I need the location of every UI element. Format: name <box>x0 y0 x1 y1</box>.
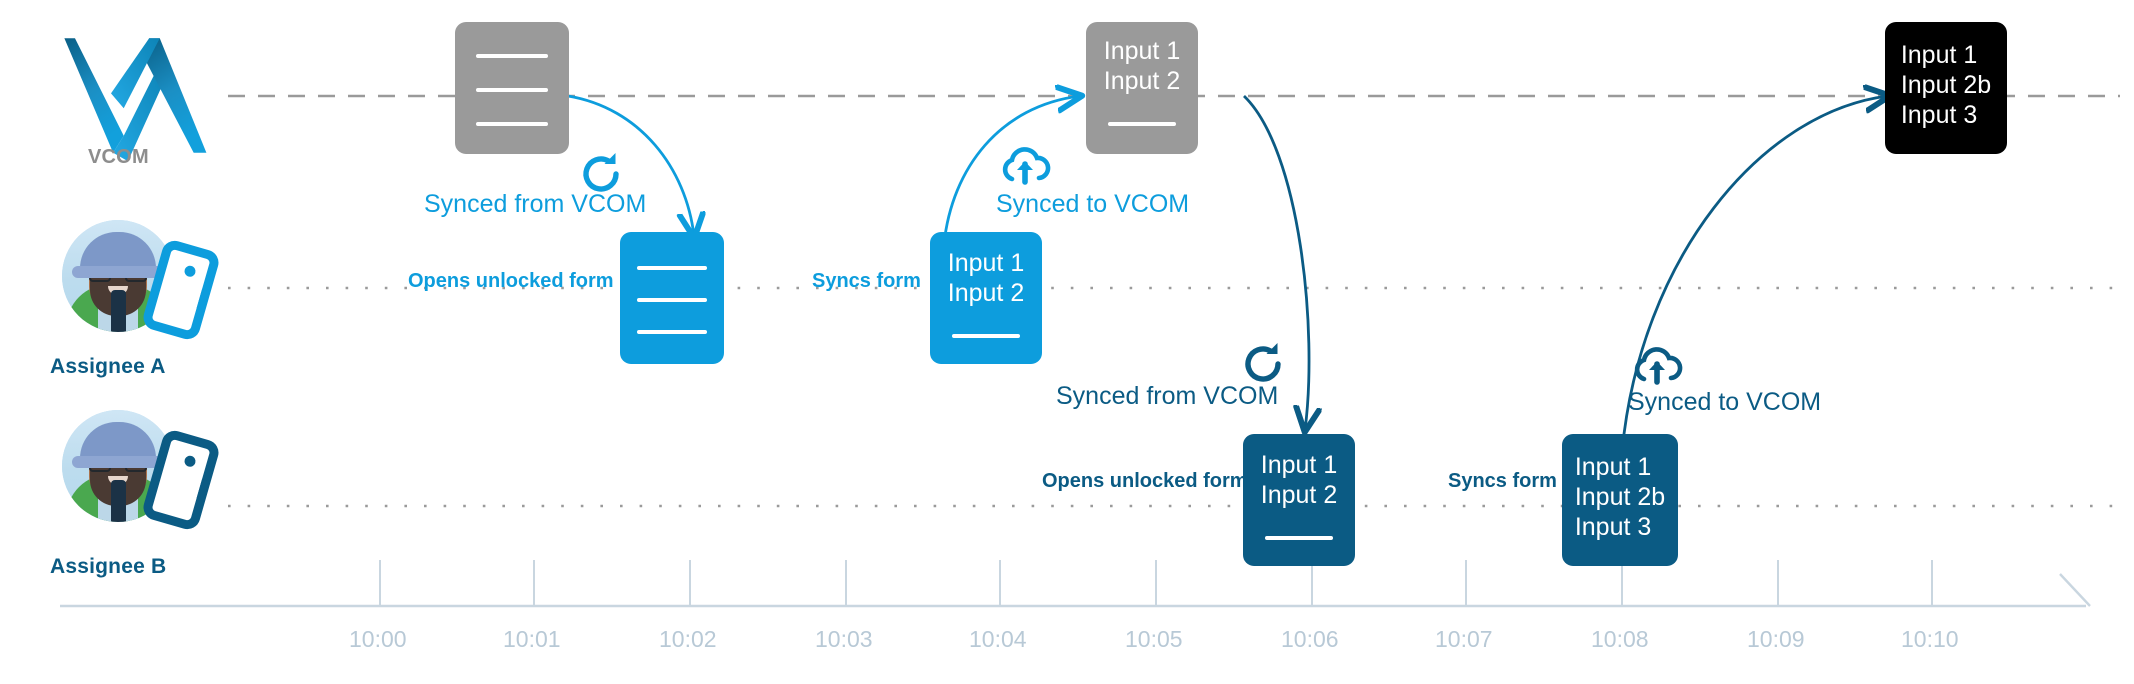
time-tick-1005: 10:05 <box>1125 626 1183 653</box>
annotation-syncs-form-b: Syncs form <box>1448 470 1557 493</box>
annotation-syncs-form-a: Syncs form <box>812 270 921 293</box>
card-vcom-blank-form[interactable] <box>455 22 569 154</box>
time-tick-1009: 10:09 <box>1747 626 1805 653</box>
annotation-opens-unlocked-form-b: Opens unlocked form <box>1042 470 1248 493</box>
lane-label-assignee-b: Assignee B <box>50 555 166 579</box>
annotation-synced-from-vcom-a: Synced from VCOM <box>424 190 646 219</box>
time-tick-1001: 10:01 <box>503 626 561 653</box>
annotation-opens-unlocked-form-a: Opens unlocked form <box>408 270 614 293</box>
annotation-synced-to-vcom-a: Synced to VCOM <box>996 190 1189 219</box>
card-vcom-form-final-text: Input 1 Input 2b Input 3 <box>1901 40 1991 130</box>
vcom-logo <box>64 38 206 161</box>
card-vcom-form-final[interactable]: Input 1 Input 2b Input 3 <box>1885 22 2007 154</box>
card-b-unlocked-form[interactable]: Input 1 Input 2 <box>1243 434 1355 566</box>
card-b-filled-form-text: Input 1 Input 2b Input 3 <box>1575 452 1665 542</box>
card-a-filled-form-text: Input 1 Input 2 <box>948 248 1024 308</box>
refresh-icon-b <box>1240 340 1288 388</box>
lane-label-vcom: VCOM <box>88 146 149 169</box>
time-tick-1006: 10:06 <box>1281 626 1339 653</box>
time-axis <box>60 560 2090 606</box>
lane-label-assignee-a: Assignee A <box>50 355 166 379</box>
card-a-filled-form[interactable]: Input 1 Input 2 <box>930 232 1042 364</box>
time-tick-1007: 10:07 <box>1435 626 1493 653</box>
time-tick-1002: 10:02 <box>659 626 717 653</box>
annotation-synced-to-vcom-b: Synced to VCOM <box>1628 388 1821 417</box>
card-vcom-form-v1-text: Input 1 Input 2 <box>1104 36 1180 96</box>
cloud-upload-icon-a <box>996 144 1054 188</box>
card-b-unlocked-form-text: Input 1 Input 2 <box>1261 450 1337 510</box>
time-tick-1003: 10:03 <box>815 626 873 653</box>
card-a-unlocked-form[interactable] <box>620 232 724 364</box>
annotation-synced-from-vcom-b: Synced from VCOM <box>1056 382 1278 411</box>
diagram-vector-layer <box>0 0 2134 684</box>
time-tick-1000: 10:00 <box>349 626 407 653</box>
card-vcom-form-v1[interactable]: Input 1 Input 2 <box>1086 22 1198 154</box>
timeline-diagram: VCOM Assignee A Assignee B <box>0 0 2134 684</box>
cloud-upload-icon-b <box>1628 344 1686 388</box>
time-tick-1008: 10:08 <box>1591 626 1649 653</box>
card-b-filled-form[interactable]: Input 1 Input 2b Input 3 <box>1562 434 1678 566</box>
time-tick-1004: 10:04 <box>969 626 1027 653</box>
time-tick-1010: 10:10 <box>1901 626 1959 653</box>
